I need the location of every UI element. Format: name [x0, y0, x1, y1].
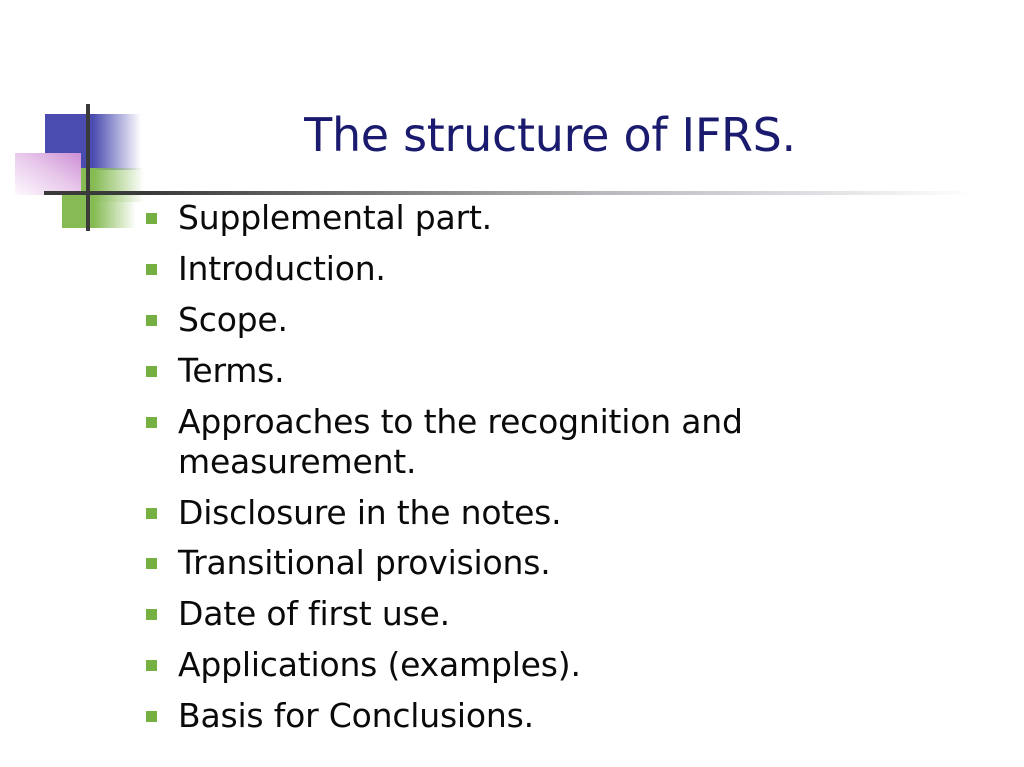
list-item-label: Transitional provisions.	[178, 543, 986, 583]
list-item: Supplemental part.	[146, 198, 986, 238]
list-item-label: Basis for Conclusions.	[178, 696, 986, 736]
list-item: Basis for Conclusions.	[146, 696, 986, 736]
list-item-label: Introduction.	[178, 249, 986, 289]
list-item: Disclosure in the notes.	[146, 493, 986, 533]
list-item-label: Applications (examples).	[178, 645, 986, 685]
square-bullet-icon	[146, 660, 157, 671]
square-bullet-icon	[146, 711, 157, 722]
decoration-green-square	[62, 168, 94, 228]
list-item-label: Disclosure in the notes.	[178, 493, 986, 533]
square-bullet-icon	[146, 264, 157, 275]
list-item: Approaches to the recognition and measur…	[146, 402, 986, 482]
list-item-label: Approaches to the recognition and measur…	[178, 402, 986, 482]
square-bullet-icon	[146, 366, 157, 377]
list-item-label: Supplemental part.	[178, 198, 986, 238]
slide-canvas: The structure of IFRS. Supplemental part…	[0, 0, 1024, 767]
list-item: Transitional provisions.	[146, 543, 986, 583]
list-item: Terms.	[146, 351, 986, 391]
square-bullet-icon	[146, 558, 157, 569]
list-item-label: Scope.	[178, 300, 986, 340]
square-bullet-icon	[146, 315, 157, 326]
square-bullet-icon	[146, 213, 157, 224]
decoration-green-gradient-2	[94, 202, 136, 228]
slide-title: The structure of IFRS.	[120, 112, 980, 158]
decoration-blue-square	[45, 114, 93, 170]
list-item: Introduction.	[146, 249, 986, 289]
decoration-vertical-line	[86, 104, 90, 231]
list-item-label: Date of first use.	[178, 594, 986, 634]
list-item: Scope.	[146, 300, 986, 340]
square-bullet-icon	[146, 508, 157, 519]
list-item: Applications (examples).	[146, 645, 986, 685]
list-item-label: Terms.	[178, 351, 986, 391]
bullet-list: Supplemental part. Introduction. Scope. …	[146, 198, 986, 747]
square-bullet-icon	[146, 609, 157, 620]
decoration-green-gradient	[94, 168, 144, 202]
decoration-pink-square	[15, 153, 81, 195]
title-divider	[44, 191, 974, 195]
square-bullet-icon	[146, 417, 157, 428]
list-item: Date of first use.	[146, 594, 986, 634]
